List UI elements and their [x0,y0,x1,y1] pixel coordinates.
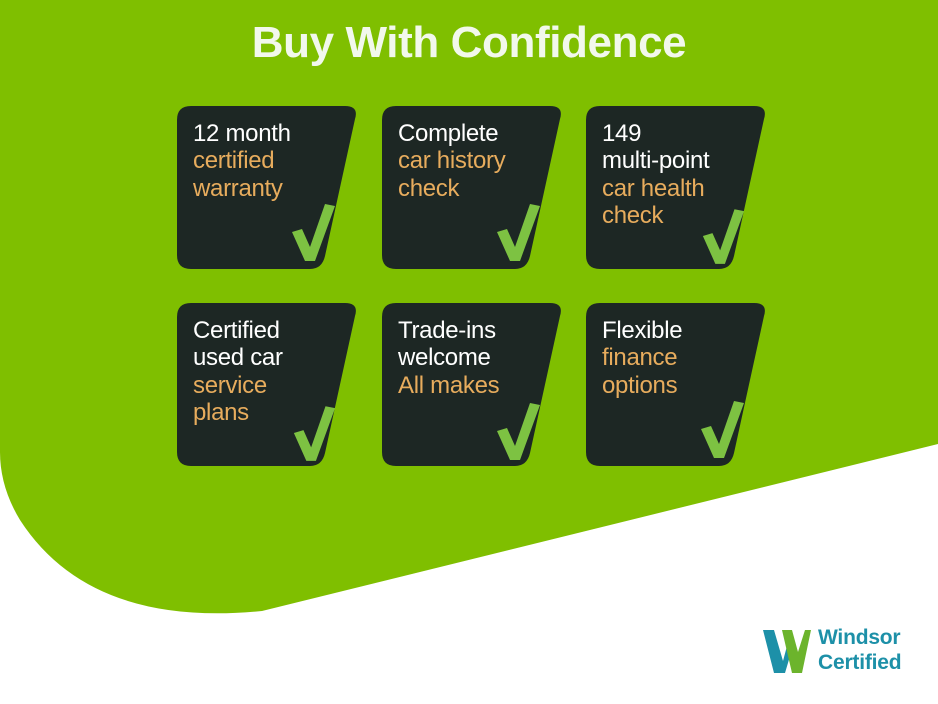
card-line: check [398,175,548,202]
card-text-block: 12 month certified warranty [193,120,343,202]
card-text-block: Complete car history check [398,120,548,202]
card-text-block: Flexible finance options [602,317,752,399]
card-line: Trade-ins [398,317,548,344]
card-line: options [602,372,752,399]
brand-name-line-1: Windsor [818,626,901,651]
card-line: welcome [398,344,548,371]
windsor-w-icon [762,628,812,674]
feature-card-multi-point-health-check[interactable]: 149 multi-point car health check [586,106,768,269]
check-tick-icon [291,406,337,462]
feature-card-certified-warranty[interactable]: 12 month certified warranty [177,106,359,269]
feature-card-trade-ins-welcome[interactable]: Trade-ins welcome All makes [382,303,564,466]
card-line: Flexible [602,317,752,344]
poster-canvas: Buy With Confidence 12 month certified w… [0,0,938,704]
brand-name-line-2: Certified [818,651,901,676]
card-text-block: Trade-ins welcome All makes [398,317,548,399]
check-tick-icon [494,204,542,262]
feature-card-service-plans[interactable]: Certified used car service plans [177,303,359,466]
feature-card-car-history-check[interactable]: Complete car history check [382,106,564,269]
page-title: Buy With Confidence [0,18,938,68]
check-tick-icon [494,403,542,461]
card-line: Certified [193,317,343,344]
card-line: warranty [193,175,343,202]
card-line: All makes [398,372,548,399]
card-line: car health [602,175,752,202]
card-line: 149 [602,120,752,147]
card-line: used car [193,344,343,371]
brand-logo[interactable]: Windsor Certified [762,626,932,682]
check-tick-icon [700,209,746,265]
card-line: 12 month [193,120,343,147]
feature-card-flexible-finance[interactable]: Flexible finance options [586,303,768,466]
card-line: finance [602,344,752,371]
card-line: service [193,372,343,399]
card-line: car history [398,147,548,174]
check-tick-icon [698,401,746,459]
card-line: Complete [398,120,548,147]
check-tick-icon [289,204,337,262]
brand-wordmark: Windsor Certified [818,626,901,676]
card-line: certified [193,147,343,174]
card-line: multi-point [602,147,752,174]
